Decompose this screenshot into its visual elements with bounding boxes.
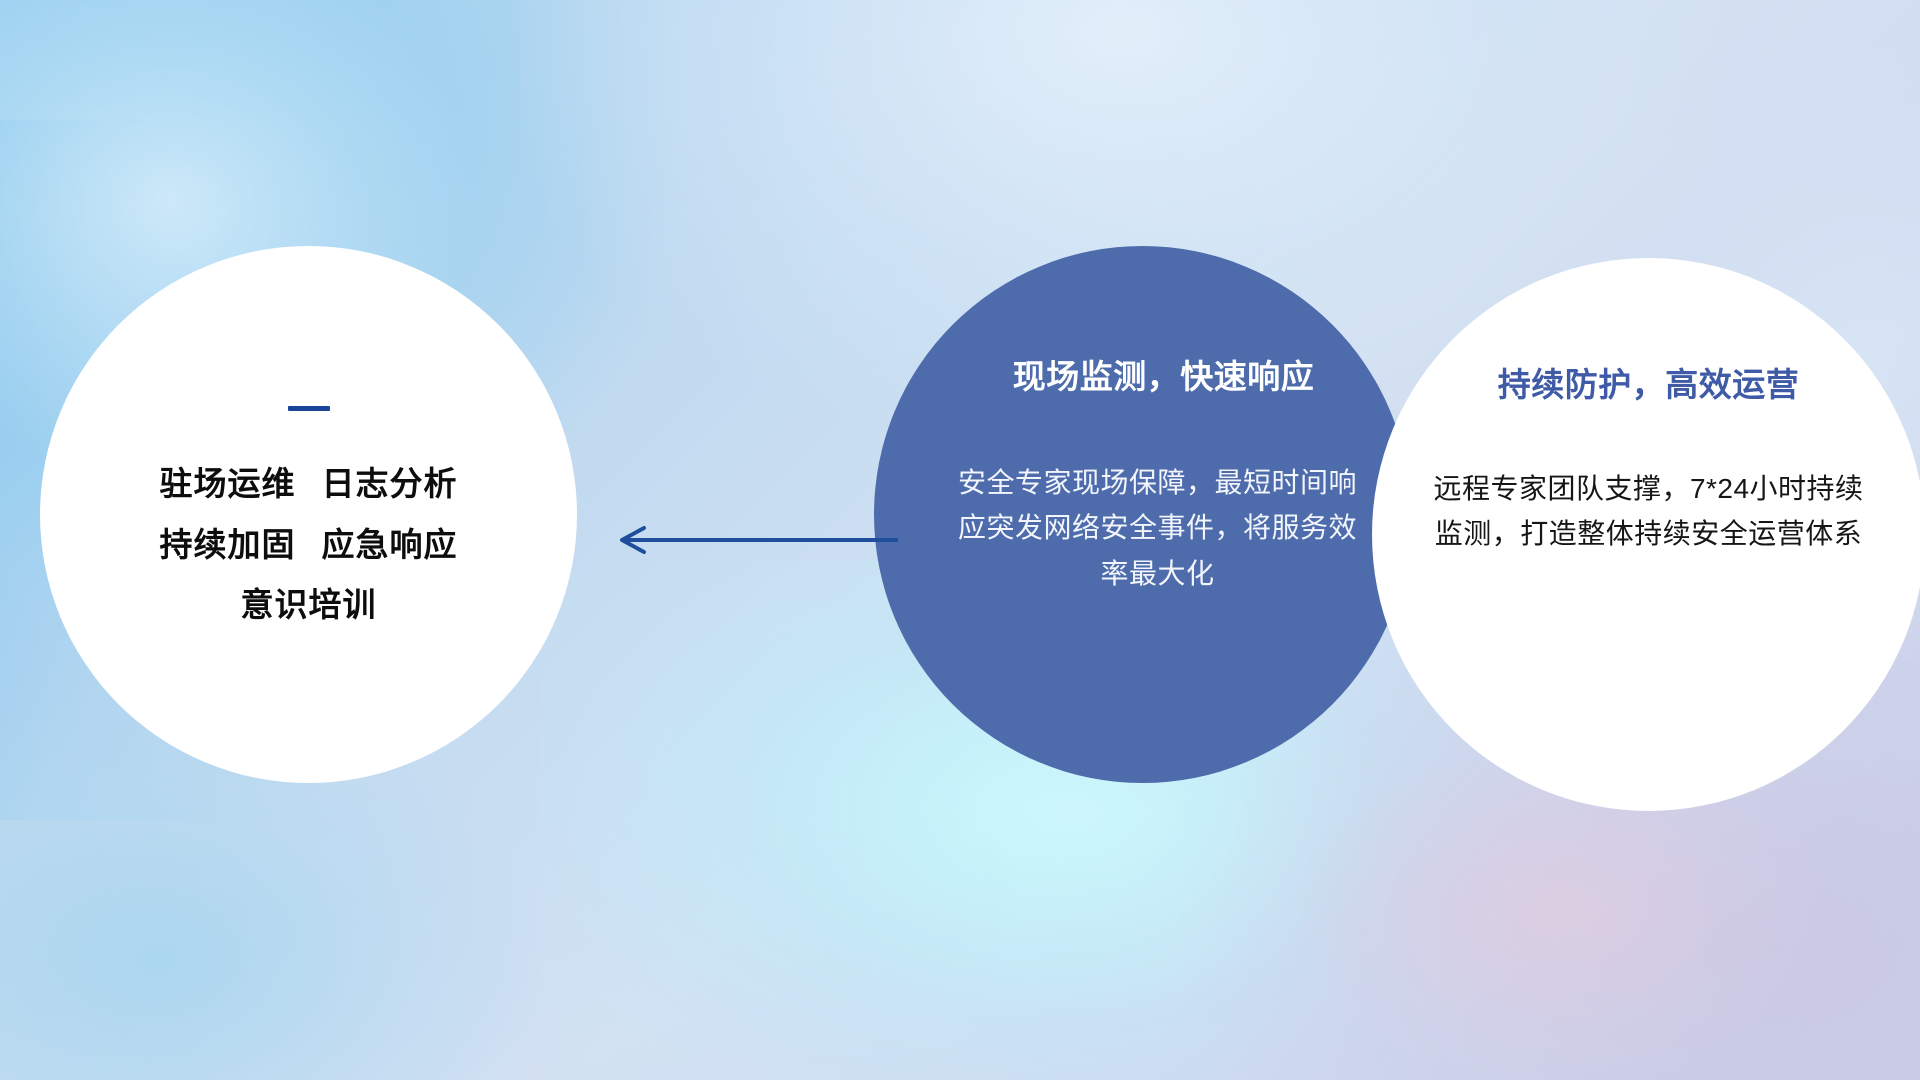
capability-keyword: 应急响应 xyxy=(322,526,458,563)
capability-row: 驻场运维日志分析 xyxy=(160,467,458,502)
continuous-protection-circle[interactable]: 持续防护，高效运营 远程专家团队支撑，7*24小时持续监测，打造整体持续安全运营… xyxy=(1372,258,1920,811)
divider-line xyxy=(288,406,330,411)
onsite-monitoring-circle[interactable]: 现场监测，快速响应 安全专家现场保障，最短时间响应突发网络安全事件，将服务效率最… xyxy=(874,246,1411,783)
slide-canvas: 驻场运维日志分析 持续加固应急响应 意识培训 现场监测，快速响应 安全专家现场保… xyxy=(0,0,1920,1080)
capability-row: 持续加固应急响应 xyxy=(160,528,458,563)
capability-circle-left[interactable]: 驻场运维日志分析 持续加固应急响应 意识培训 xyxy=(40,246,577,783)
continuous-protection-title: 持续防护，高效运营 xyxy=(1498,358,1800,406)
continuous-protection-body: 远程专家团队支撑，7*24小时持续监测，打造整体持续安全运营体系 xyxy=(1423,466,1875,557)
arrow-left-icon xyxy=(610,520,900,560)
capability-keyword: 日志分析 xyxy=(322,465,458,502)
capability-keyword: 持续加固 xyxy=(160,526,296,563)
onsite-monitoring-title: 现场监测，快速响应 xyxy=(1013,350,1315,398)
capability-keyword: 意识培训 xyxy=(241,586,377,623)
capability-keyword-list: 驻场运维日志分析 持续加固应急响应 意识培训 xyxy=(160,467,458,623)
capability-keyword: 驻场运维 xyxy=(160,465,296,502)
onsite-monitoring-body: 安全专家现场保障，最短时间响应突发网络安全事件，将服务效率最大化 xyxy=(958,460,1358,596)
capability-row: 意识培训 xyxy=(241,588,377,623)
